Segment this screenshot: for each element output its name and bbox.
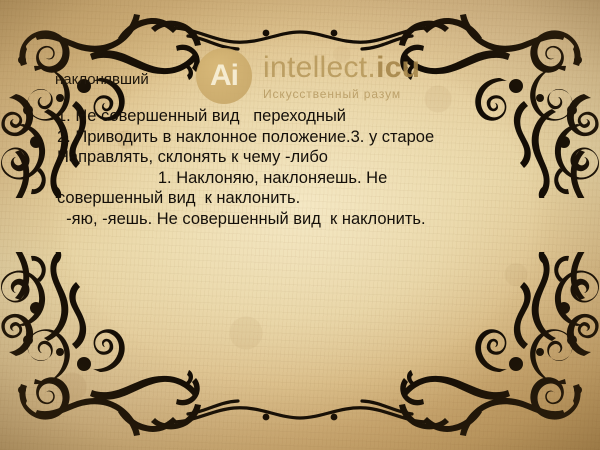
definition-list: 1. Не совершенный вид переходный 2. Прив… [57, 106, 557, 230]
definition-line: 2. Приводить в наклонное положение.3. у … [57, 127, 557, 148]
definition-line: -яю, -яешь. Не совершенный вид к наклони… [57, 209, 557, 230]
definition-line: совершенный вид к наклонить. [57, 188, 557, 209]
parchment-page: Ai intellect.icu Искусственный разум нак… [0, 0, 600, 450]
definition-line: 1. Не совершенный вид переходный [57, 106, 557, 127]
page-title: наклонявший [55, 71, 149, 88]
definition-line: Направлять, склонять к чему -либо [57, 147, 557, 168]
document-content: наклонявший 1. Не совершенный вид перехо… [0, 0, 600, 450]
definition-line: 1. Наклоняю, наклоняешь. Не [57, 168, 557, 189]
